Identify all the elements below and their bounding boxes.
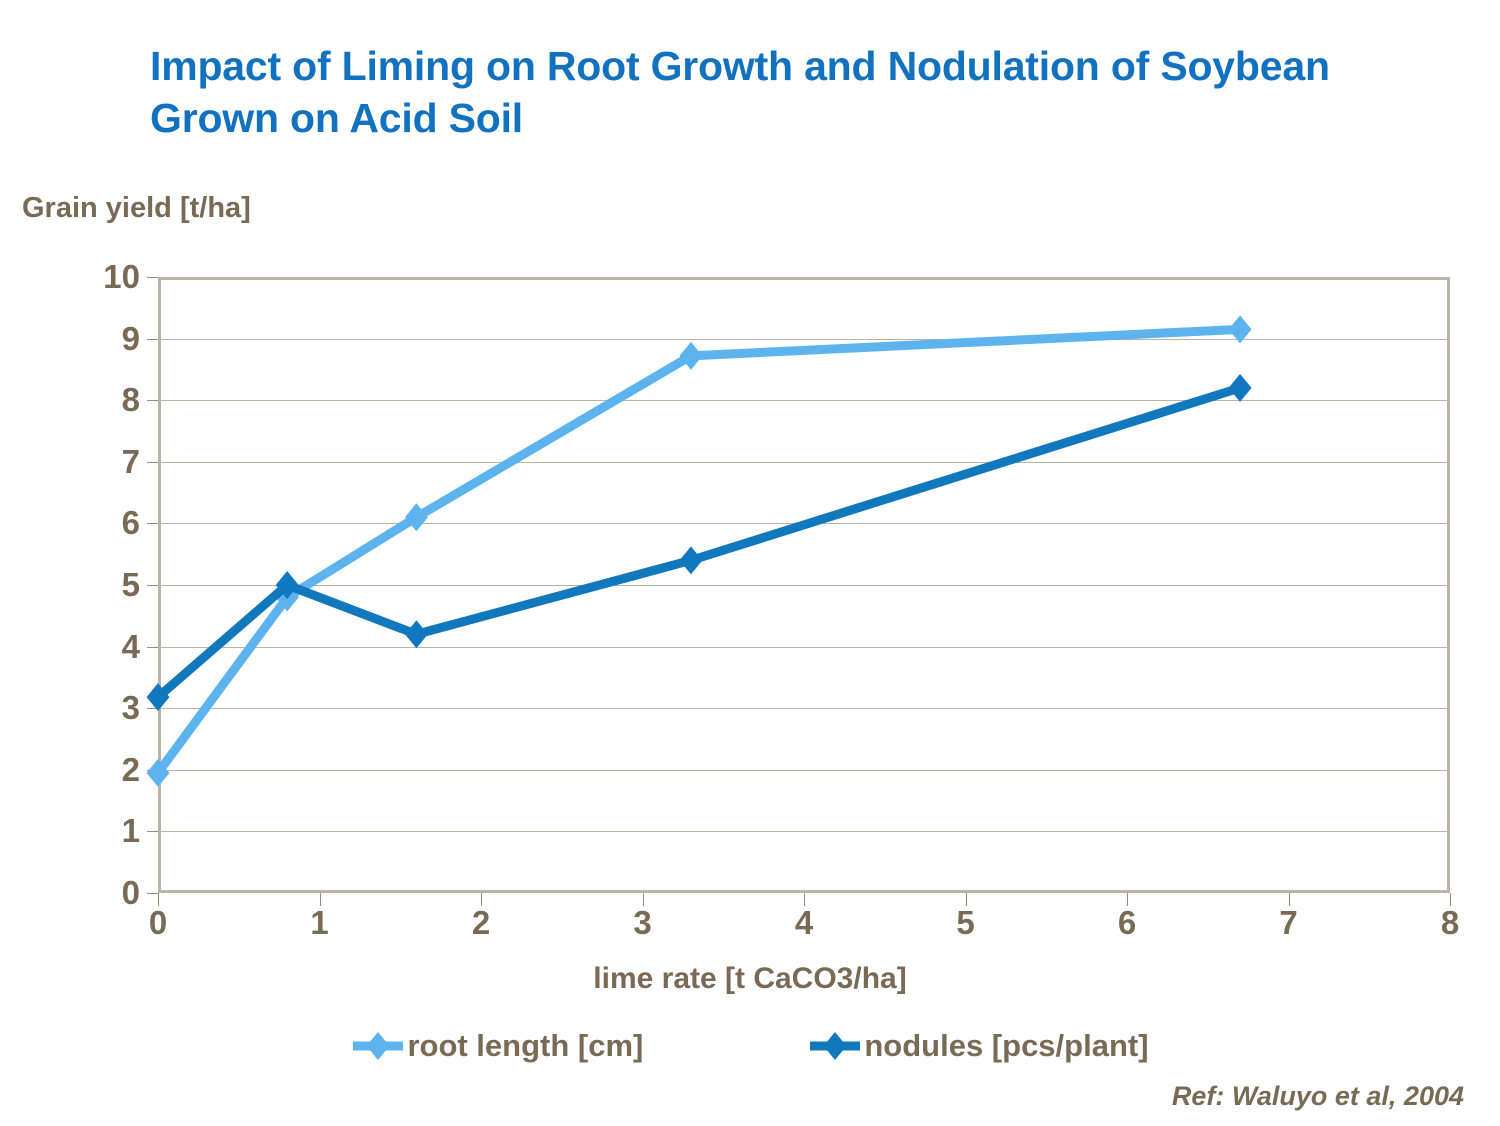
reference-citation: Ref: Waluyo et al, 2004 <box>1172 1081 1464 1112</box>
y-tick-label: 7 <box>90 443 140 481</box>
y-tick-mark <box>147 585 158 586</box>
y-tick-label: 0 <box>90 874 140 912</box>
legend-label: root length [cm] <box>407 1028 643 1064</box>
x-tick-label: 1 <box>310 904 328 942</box>
y-axis-tick-labels: 012345678910 <box>88 277 140 893</box>
y-tick-mark <box>147 523 158 524</box>
x-axis-tick-labels: 012345678 <box>158 904 1450 948</box>
x-tick-label: 8 <box>1441 904 1459 942</box>
legend-item[interactable]: root length [cm] <box>351 1028 643 1064</box>
y-tick-label: 5 <box>90 566 140 604</box>
series-line <box>158 329 1240 773</box>
y-tick-mark <box>147 339 158 340</box>
y-tick-label: 6 <box>90 504 140 542</box>
legend-marker-icon <box>351 1029 405 1063</box>
y-tick-mark <box>147 400 158 401</box>
y-tick-mark <box>147 831 158 832</box>
plot-area-wrapper <box>158 277 1450 893</box>
legend-item[interactable]: nodules [pcs/plant] <box>808 1028 1148 1064</box>
data-point-marker <box>405 620 428 648</box>
chart-title: Impact of Liming on Root Growth and Nodu… <box>150 40 1410 145</box>
data-point-marker <box>1229 374 1252 402</box>
y-tick-label: 10 <box>90 258 140 296</box>
series-line <box>158 388 1240 697</box>
y-tick-label: 1 <box>90 812 140 850</box>
y-tick-label: 9 <box>90 320 140 358</box>
y-tick-mark <box>147 893 158 894</box>
y-tick-mark <box>147 647 158 648</box>
x-tick-label: 6 <box>1118 904 1136 942</box>
x-tick-label: 0 <box>149 904 167 942</box>
y-tick-mark <box>147 277 158 278</box>
x-tick-label: 7 <box>1279 904 1297 942</box>
series-root <box>147 315 1252 787</box>
series-nodules <box>147 374 1252 711</box>
chart-legend: root length [cm]nodules [pcs/plant] <box>0 1028 1500 1064</box>
y-axis-title: Grain yield [t/ha] <box>22 192 251 225</box>
x-tick-label: 5 <box>956 904 974 942</box>
legend-marker-icon <box>808 1029 862 1063</box>
y-tick-label: 2 <box>90 751 140 789</box>
x-axis-title: lime rate [t CaCO3/ha] <box>0 962 1500 996</box>
y-tick-label: 8 <box>90 381 140 419</box>
data-point-marker <box>679 546 702 574</box>
x-tick-label: 2 <box>472 904 490 942</box>
data-point-marker <box>1229 315 1252 343</box>
series-plot <box>158 277 1450 893</box>
legend-label: nodules [pcs/plant] <box>864 1028 1148 1064</box>
x-tick-label: 3 <box>633 904 651 942</box>
y-tick-mark <box>147 462 158 463</box>
y-tick-label: 4 <box>90 628 140 666</box>
y-tick-label: 3 <box>90 689 140 727</box>
x-tick-label: 4 <box>795 904 813 942</box>
